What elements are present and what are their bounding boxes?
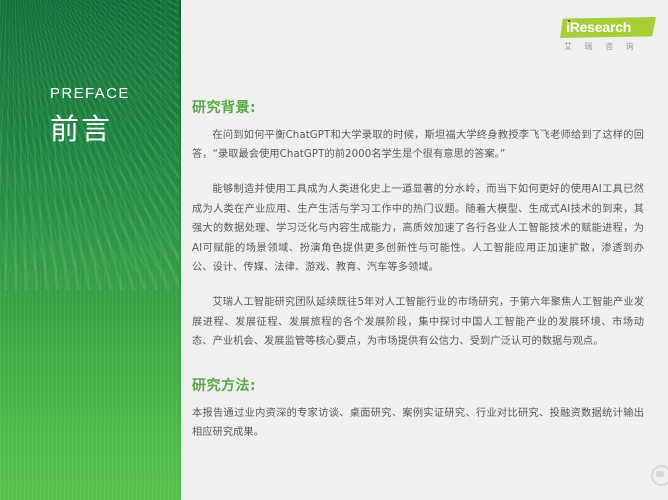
background-paragraph-3: 艾瑞人工智能研究团队延续既往5年对人工智能行业的市场研究，于第六年聚焦人工智能产… (192, 293, 644, 352)
iresearch-logo[interactable]: iResearch 艾 瑞 咨 询 (560, 17, 658, 57)
vertical-stripe-texture (0, 270, 181, 500)
cover-title-group: PREFACE 前言 (50, 86, 130, 144)
watermark: 分享号：银创智库 2 (651, 460, 668, 490)
vertical-stripe-texture-top (0, 0, 181, 300)
preface-chinese-title: 前言 (50, 115, 130, 144)
logo-wordmark: iResearch (566, 19, 631, 36)
logo-mark: iResearch (560, 17, 656, 38)
section-heading-research-background: 研究背景: (192, 100, 644, 117)
logo-chinese-subtitle: 艾 瑞 咨 询 (564, 41, 656, 52)
section-heading-research-method: 研究方法: (192, 378, 644, 395)
cover-panel: PREFACE 前言 (0, 0, 181, 500)
research-method-block: 研究方法: 本报告通过业内资深的专家访谈、桌面研究、案例实证研究、行业对比研究、… (192, 378, 644, 443)
background-paragraph-1: 在问到如何平衡ChatGPT和大学录取的时候，斯坦福大学终身教授李飞飞老师给到了… (192, 126, 644, 165)
method-paragraph-1: 本报告通过业内资深的专家访谈、桌面研究、案例实证研究、行业对比研究、投融资数据统… (192, 404, 644, 443)
body-text-area: 研究背景: 在问到如何平衡ChatGPT和大学录取的时候，斯坦福大学终身教授李飞… (192, 100, 644, 458)
content-area: iResearch 艾 瑞 咨 询 研究背景: 在问到如何平衡ChatGPT和大… (181, 0, 668, 500)
slide-page: PREFACE 前言 iResearch 艾 瑞 咨 询 研究背景: 在问到如何… (0, 0, 668, 500)
background-paragraph-2: 能够制造并使用工具成为人类进化史上一道显著的分水岭，而当下如何更好的使用AI工具… (192, 180, 644, 278)
watermark-badge-icon (651, 465, 668, 486)
preface-english-label: PREFACE (50, 86, 130, 101)
